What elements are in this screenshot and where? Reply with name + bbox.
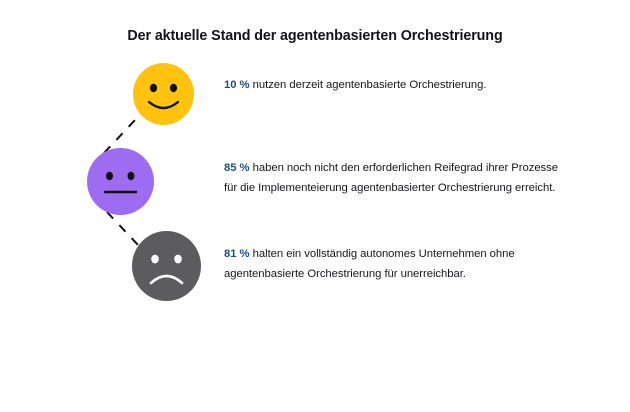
stat-text-1: nutzen derzeit agentenbasierte Orchestri…	[250, 79, 487, 91]
stat-item-2: 85 % haben noch nicht den erforderlichen…	[224, 159, 564, 198]
stat-percent-1: 10 %	[224, 79, 250, 91]
stat-text-2: haben noch nicht den erforderlichen Reif…	[224, 162, 558, 194]
sad-face-icon	[132, 231, 201, 301]
infographic-canvas: Der aktuelle Stand der agentenbasierten …	[0, 0, 630, 412]
happy-face-icon	[133, 63, 194, 125]
stat-percent-2: 85 %	[224, 162, 250, 174]
stat-item-3: 81 % halten ein vollständig autonomes Un…	[224, 245, 564, 284]
neutral-face-icon	[87, 148, 154, 215]
stat-percent-3: 81 %	[224, 248, 250, 260]
stat-item-1: 10 % nutzen derzeit agentenbasierte Orch…	[224, 76, 564, 96]
page-title: Der aktuelle Stand der agentenbasierten …	[0, 28, 630, 44]
stat-text-3: halten ein vollständig autonomes Unterne…	[224, 248, 515, 280]
